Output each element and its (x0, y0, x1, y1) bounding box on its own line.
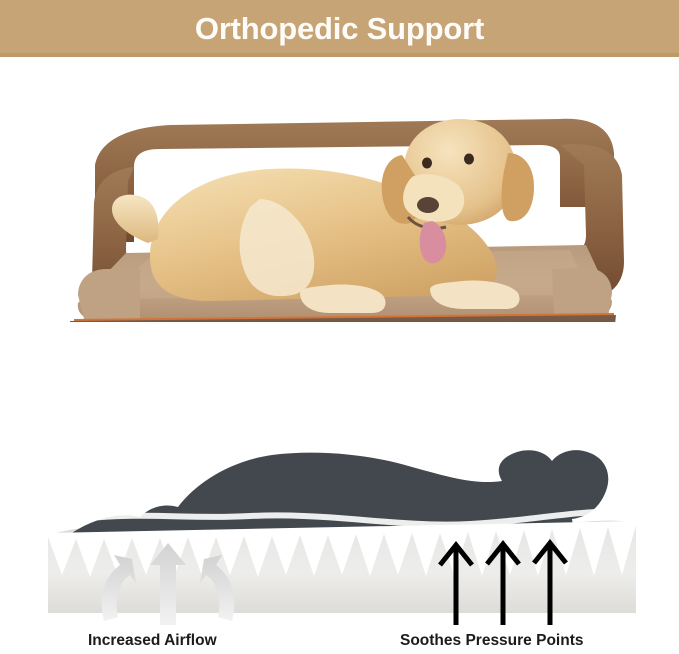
product-photo (0, 57, 679, 322)
foam-diagram-illustration (0, 425, 679, 625)
cushion-corner-pad-right (552, 268, 612, 317)
header-banner: Orthopedic Support (0, 0, 679, 57)
dog-eye-right (464, 154, 474, 165)
dog-eye-left (422, 158, 432, 169)
cushion-corner-pad-left (78, 269, 140, 319)
caption-increased-airflow: Increased Airflow (88, 632, 217, 650)
dog-nose (417, 197, 439, 213)
caption-soothes-pressure-points: Soothes Pressure Points (400, 632, 583, 650)
page-title: Orthopedic Support (195, 13, 484, 44)
hardness-scale: Too soft 1 Lack of support Moderate hard… (0, 325, 679, 425)
foam-cutaway-diagram (0, 425, 679, 625)
infographic-page: Orthopedic Support (0, 0, 679, 654)
dog-bed-photo-illustration (0, 57, 679, 322)
dog-ear-right (502, 153, 534, 221)
